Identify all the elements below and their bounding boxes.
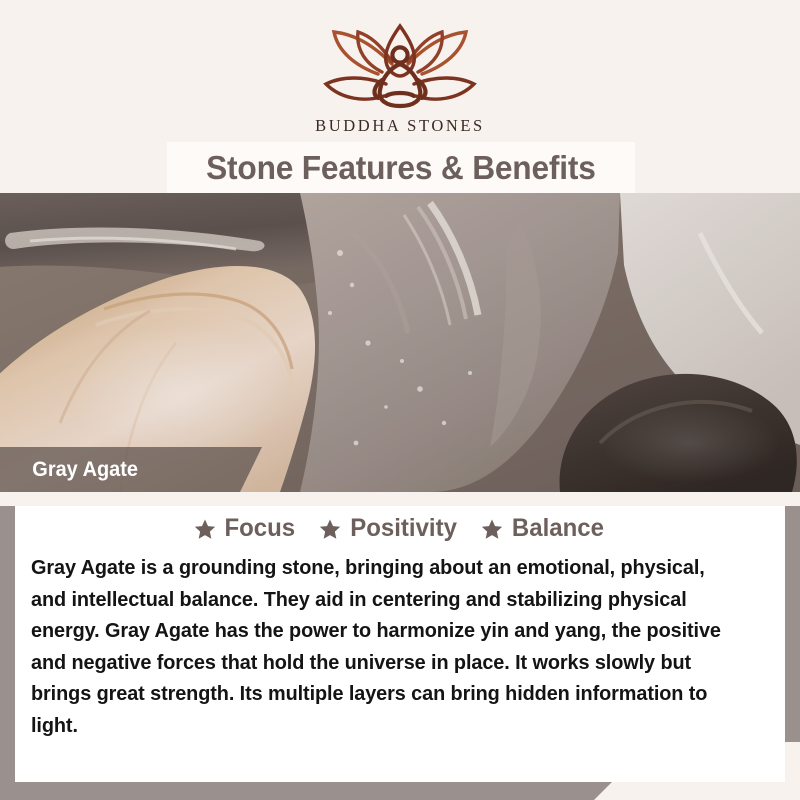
brand-logo: BUDDHA STONES — [0, 18, 800, 136]
star-icon — [319, 518, 341, 540]
poster-canvas: BUDDHA STONES Stone Features & Benefits — [0, 0, 800, 800]
content-divider-strip — [0, 492, 800, 506]
lotus-meditation-icon — [312, 18, 488, 114]
feature-item-balance: Balance — [481, 514, 606, 543]
frame-band-left — [0, 492, 15, 800]
feature-label: Focus — [225, 514, 296, 543]
star-icon — [481, 518, 503, 540]
feature-item-focus: Focus — [194, 514, 297, 543]
frame-band-bottom — [0, 782, 612, 800]
feature-list: Focus Positivity Balance — [15, 506, 785, 543]
page-title: Stone Features & Benefits — [206, 149, 596, 187]
stone-name-tag: Gray Agate — [0, 447, 262, 492]
brand-name: BUDDHA STONES — [0, 116, 800, 136]
star-icon — [194, 518, 216, 540]
stone-photo: Gray Agate — [0, 193, 800, 492]
feature-label: Balance — [512, 514, 604, 543]
title-band: Stone Features & Benefits — [167, 142, 635, 193]
stone-name-label: Gray Agate — [0, 458, 138, 482]
stone-description: Gray Agate is a grounding stone, bringin… — [31, 552, 743, 741]
feature-label: Positivity — [350, 514, 457, 543]
feature-item-positivity: Positivity — [319, 514, 459, 543]
content-panel: Focus Positivity Balance Gray — [15, 506, 785, 782]
